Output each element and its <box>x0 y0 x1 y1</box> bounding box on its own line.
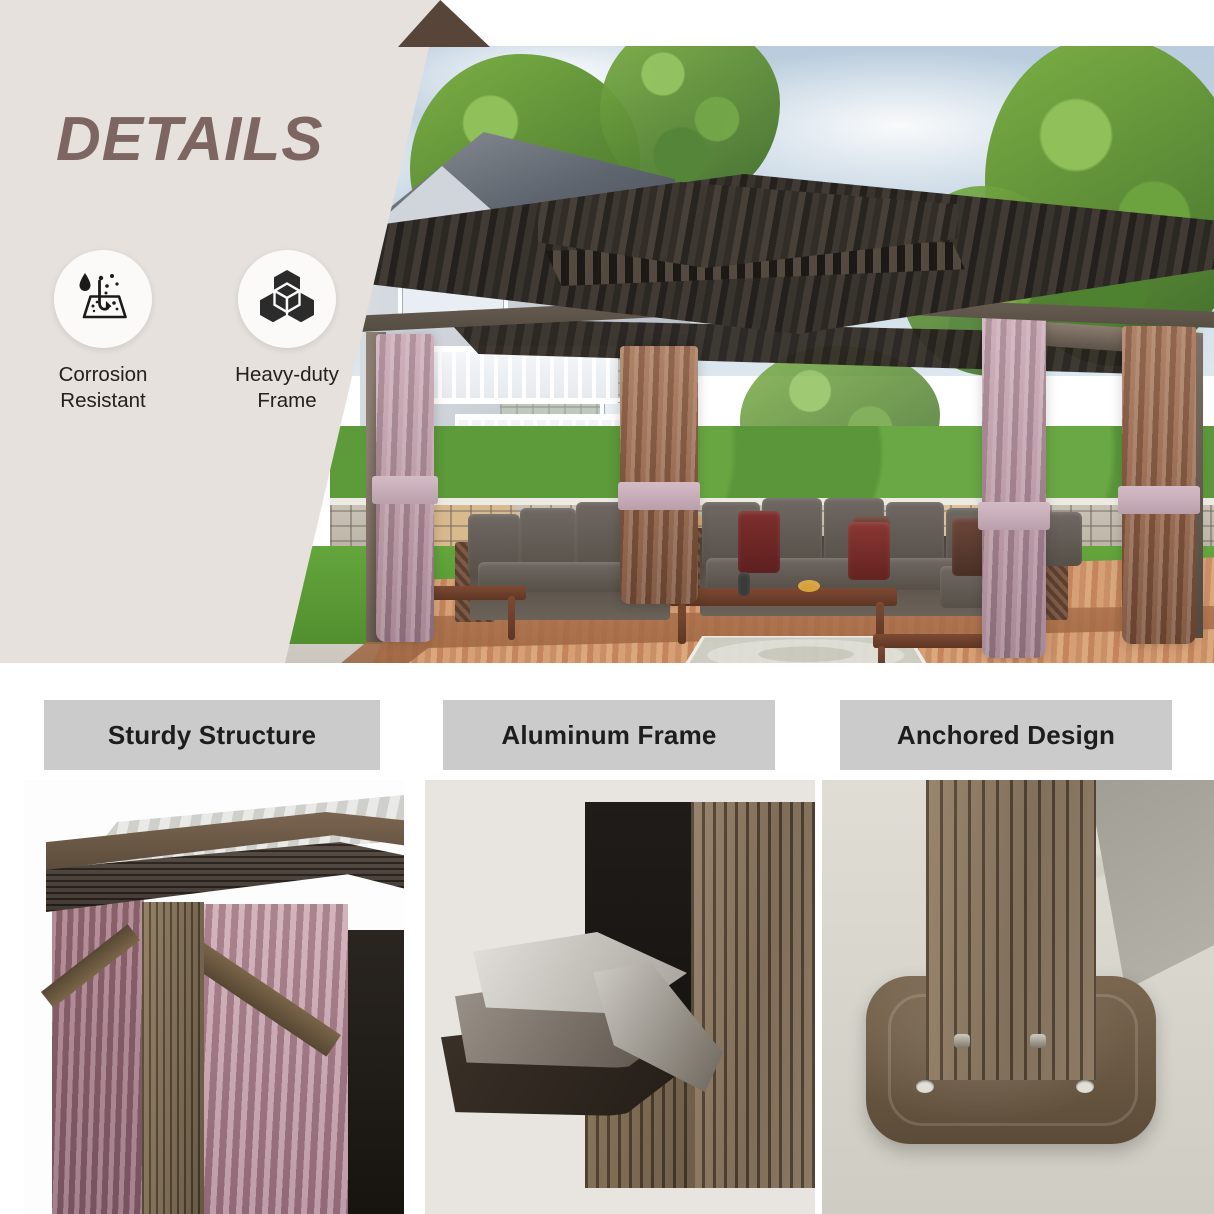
gazebo-post <box>926 780 1096 1080</box>
water-repellent-icon <box>73 269 133 330</box>
gazebo-curtain <box>1122 326 1196 644</box>
anchor-bolt-hole <box>916 1080 934 1093</box>
anchor-screw <box>1030 1034 1046 1048</box>
corner-post <box>142 902 204 1214</box>
feature-heavy-duty-frame: Heavy-duty Frame <box>228 250 346 414</box>
corner-beam-closeup-photo <box>24 780 404 1214</box>
feature-corrosion-resistant: Corrosion Resistant <box>44 250 162 414</box>
icon-badge <box>238 250 336 348</box>
anchored-base-plate-photo <box>822 780 1214 1214</box>
gazebo-curtain <box>982 314 1046 658</box>
curtain-tieback <box>978 502 1050 530</box>
side-table <box>873 634 985 648</box>
coffee-table <box>669 588 897 606</box>
tag-label: Aluminum Frame <box>443 720 775 751</box>
feature-label-line2: Resistant <box>44 388 162 414</box>
tag-label: Sturdy Structure <box>44 720 380 751</box>
accent-pillow-red <box>848 522 890 580</box>
gazebo-curtain <box>620 346 698 604</box>
feature-label: Heavy-duty Frame <box>228 362 346 414</box>
tag-sturdy-structure: Sturdy Structure <box>44 700 380 770</box>
curtain-tieback <box>618 482 700 510</box>
hexagon-cubes-icon <box>258 269 316 330</box>
tag-anchored-design: Anchored Design <box>840 700 1172 770</box>
page-title: DETAILS <box>56 104 324 175</box>
icon-badge <box>54 250 152 348</box>
hero-section: DETAILS <box>0 0 1214 663</box>
aluminum-coating-layers-photo <box>425 780 815 1214</box>
feature-label-line1: Heavy-duty <box>228 362 346 388</box>
fruit-bowl <box>798 580 820 592</box>
feature-label-line1: Corrosion <box>44 362 162 388</box>
curtain-fabric <box>200 904 348 1214</box>
table-leg <box>678 604 686 644</box>
post-textured-face <box>691 802 815 1188</box>
anchor-bolt-hole <box>1076 1080 1094 1093</box>
curtain-tieback <box>1118 486 1200 514</box>
curtain-tieback <box>372 476 438 504</box>
table-vase <box>738 572 750 596</box>
feature-list: Corrosion Resistant <box>44 250 346 414</box>
bottom-section: Sturdy Structure Aluminum Frame Anchored… <box>0 663 1214 1214</box>
tag-aluminum-frame: Aluminum Frame <box>443 700 775 770</box>
hero-top-white-strip <box>420 0 1214 46</box>
feature-label: Corrosion Resistant <box>44 362 162 414</box>
table-leg <box>508 596 515 640</box>
anchor-screw <box>954 1034 970 1048</box>
tag-label: Anchored Design <box>840 720 1172 751</box>
feature-label-line2: Frame <box>228 388 346 414</box>
accent-pillow-red <box>738 511 780 573</box>
table-leg <box>878 646 885 663</box>
